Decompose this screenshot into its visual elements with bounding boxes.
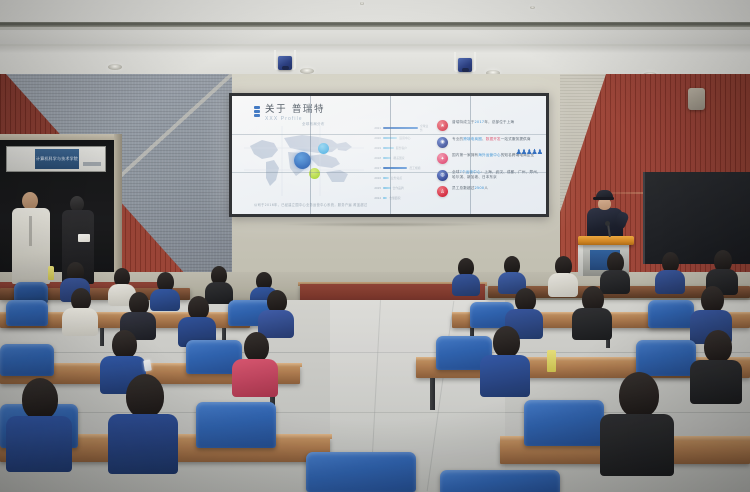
student-head: [701, 286, 724, 313]
student-torso: [655, 270, 685, 294]
seat: [0, 344, 54, 376]
presenter: [583, 190, 627, 242]
chart-row-note: 运营中心: [399, 136, 410, 140]
title-dots-icon: [254, 106, 260, 117]
chart-row: 2019服务客户: [372, 144, 430, 152]
map-dot-china: [294, 152, 311, 169]
ceiling-projector-icon: [452, 52, 478, 74]
smartphone: [143, 360, 152, 372]
chart-tick-label: 2015: [372, 186, 381, 190]
standing-person-white-shirt: [10, 192, 50, 284]
chart-row-note: 全球业务: [420, 124, 430, 132]
video-wall-screen[interactable]: 关于 普瑞特 XXX Profile 全球布局分布: [229, 93, 549, 217]
chart-row: 2018覆盖国家: [372, 154, 430, 162]
chart-tick-label: 2021: [372, 126, 381, 130]
panel-seam: [390, 96, 391, 214]
chart-bar: [383, 197, 387, 199]
panel-seam: [232, 134, 546, 135]
student-torso: [690, 360, 742, 404]
chart-row-note: 员工规模: [409, 166, 420, 170]
student: [690, 330, 742, 394]
slide-bullet-list: ★普瑞特成立于2017年，总部位于上海◉专业的跨境电商圈、数据开发一站式服务提供…: [437, 120, 543, 203]
door-sign-text: 计算机科学与技术学院: [36, 156, 78, 162]
student: [62, 288, 98, 332]
student-head: [244, 332, 269, 362]
slide-bullet-2: ◉专业的跨境电商圈、数据开发一站式服务提供商: [437, 137, 543, 148]
wall-speaker-icon: [688, 88, 705, 110]
chart-row: 2016业务站点: [372, 174, 430, 182]
slide-bar-chart: 2021全球业务2020运营中心2019服务客户2018覆盖国家2017员工规模…: [372, 124, 430, 198]
chart-tick-label: 2020: [372, 136, 381, 140]
seat: [196, 402, 276, 448]
student-torso: [62, 308, 98, 336]
student: [600, 372, 674, 468]
student: [498, 256, 526, 290]
microphone-icon: [605, 221, 610, 226]
downlight-icon: [530, 6, 535, 9]
student: [600, 252, 630, 290]
ceiling: [0, 0, 750, 78]
podium-desktop: [578, 236, 634, 245]
student-head: [126, 374, 164, 418]
chart-bar: [383, 147, 394, 149]
award-icon: ✦: [437, 153, 448, 164]
panel-seam: [310, 96, 311, 214]
network-icon: ◉: [437, 137, 448, 148]
slide-bullet-5: ♙员工总数超过2500人: [437, 186, 543, 197]
chart-tick-label: 2014: [372, 196, 381, 200]
student: [178, 296, 216, 342]
chart-bar: [383, 167, 407, 169]
calendar-icon: ★: [437, 120, 448, 131]
chart-row: 2014仓储面积: [372, 194, 430, 202]
chart-row-note: 合作品牌: [393, 186, 404, 190]
student: [655, 252, 685, 290]
chart-row-note: 业务站点: [391, 176, 402, 180]
chart-row: 2021全球业务: [372, 124, 430, 132]
downlight-icon: [360, 2, 364, 5]
chart-row: 2017员工规模: [372, 164, 430, 172]
downlight-icon: [108, 64, 122, 70]
lanyard: [29, 216, 32, 246]
held-paper: [78, 234, 90, 242]
seat: [648, 300, 694, 328]
people-icon: ♙: [437, 186, 448, 197]
student: [706, 250, 738, 290]
slide-surface: 关于 普瑞特 XXX Profile 全球布局分布: [232, 96, 546, 214]
student-torso: [600, 414, 674, 476]
panel-seam: [470, 96, 471, 214]
student-torso: [452, 274, 480, 296]
map-label: 全球布局分布: [302, 121, 325, 126]
seat: [6, 300, 48, 326]
seat: [306, 452, 416, 492]
student-torso: [108, 414, 178, 474]
student-head: [22, 378, 58, 420]
people-group-icon: ♟♟♟♟♟: [516, 148, 542, 156]
student-torso: [480, 355, 530, 397]
seat: [440, 470, 560, 492]
chart-row: 2020运营中心: [372, 134, 430, 142]
student: [452, 258, 480, 292]
screen-reflection: [280, 222, 490, 227]
slide-title-cn: 关于 普瑞特: [265, 104, 325, 115]
chart-tick-label: 2018: [372, 156, 381, 160]
chart-row: 2015合作品牌: [372, 184, 430, 192]
slide-bullet-text: 专业的跨境电商圈、数据开发一站式服务提供商: [452, 137, 531, 142]
presenter-cap-brim: [593, 197, 614, 200]
panel-seam: [232, 172, 546, 173]
door-sign: 计算机科学与技术学院: [6, 146, 106, 172]
map-dot-japan-korea: [318, 143, 329, 154]
slide-title-block: 关于 普瑞特 XXX Profile: [254, 104, 325, 122]
door-frame-right: [114, 134, 122, 286]
student: [6, 378, 72, 462]
student-head: [493, 326, 520, 358]
chart-tick-label: 2019: [372, 146, 381, 150]
student: [572, 286, 612, 336]
student-head: [619, 372, 659, 418]
ceiling-projector-icon: [272, 50, 298, 72]
chart-tick-label: 2017: [372, 166, 381, 170]
student-torso: [572, 308, 612, 340]
student-torso: [232, 359, 278, 397]
chart-bar: [383, 177, 389, 179]
water-bottle: [547, 350, 556, 372]
student-torso: [6, 416, 72, 472]
student-head: [704, 330, 732, 363]
ceiling-lip: [0, 44, 750, 46]
chart-row-note: 服务客户: [396, 146, 407, 150]
lecture-hall-photo: 计算机科学与技术学院 关于 普瑞特 XXX Profile 全球布局分布: [0, 0, 750, 492]
seat: [636, 340, 696, 376]
student-head: [112, 330, 137, 359]
world-map-graphic: 全球布局分布: [244, 126, 364, 196]
student: [108, 374, 178, 464]
student: [205, 266, 233, 300]
student: [232, 332, 278, 390]
door-sign-plate: 计算机科学与技术学院: [35, 149, 79, 169]
water-bottle: [48, 266, 54, 280]
student: [480, 326, 530, 388]
chart-tick-label: 2016: [372, 176, 381, 180]
slide-bullet-text: 普瑞特成立于2017年，总部位于上海: [452, 120, 514, 125]
desk-leg: [430, 378, 435, 410]
chart-bar: [383, 127, 418, 129]
chart-row-note: 覆盖国家: [393, 156, 404, 160]
ceiling-seam-secondary: [0, 27, 750, 30]
slide-bullet-1: ★普瑞特成立于2017年，总部位于上海: [437, 120, 543, 131]
seat: [524, 400, 604, 446]
student: [258, 290, 294, 334]
